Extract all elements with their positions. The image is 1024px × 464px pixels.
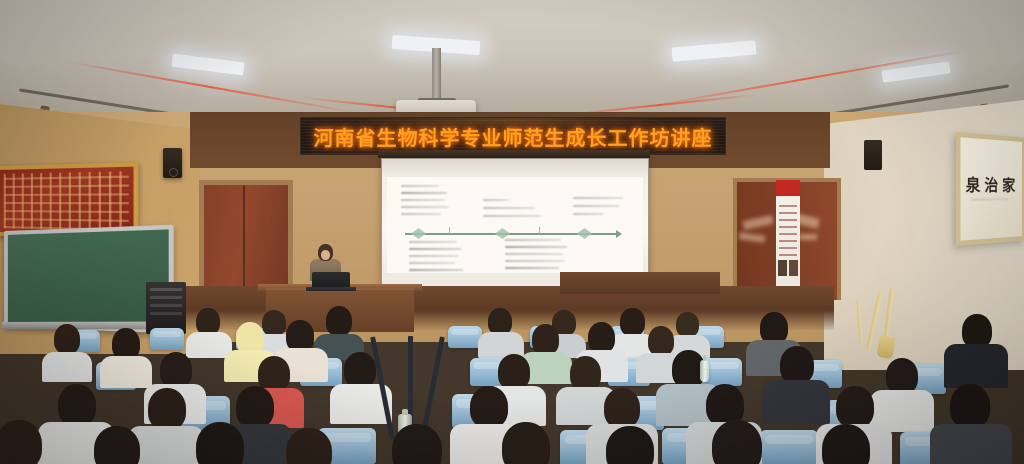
audience-head: [498, 354, 530, 390]
wall-speaker-right: [864, 140, 882, 170]
lecture-hall-photo: 河南省生物科学专业师范生成长工作坊讲座: [0, 0, 1024, 464]
screen-valance: [378, 150, 650, 158]
audience-head: [532, 324, 559, 355]
projection-screen: [381, 158, 649, 288]
audience-shoulders: [762, 380, 830, 424]
door-poster: [776, 180, 800, 290]
audience-head: [160, 352, 192, 388]
audience-shoulders: [930, 424, 1012, 464]
side-table: [560, 272, 720, 294]
right-calligraphy-scroll: 泉 治 家: [956, 132, 1024, 246]
audience-shoulders: [100, 356, 152, 388]
calligraphy-character: 家: [1002, 172, 1015, 195]
audience-head: [326, 306, 352, 336]
presenter-laptop: [312, 272, 350, 288]
audience-head: [822, 424, 870, 464]
timeline-slide: [387, 177, 643, 273]
audience-head: [58, 384, 96, 426]
audience-seating: [0, 300, 1024, 464]
audience-head: [712, 420, 762, 464]
audience-shoulders: [186, 332, 232, 358]
audience-head: [236, 386, 274, 428]
audience-head: [196, 308, 220, 335]
audience-head: [94, 426, 140, 464]
audience-head: [950, 384, 990, 428]
poster-images: [778, 260, 798, 276]
audience-head: [392, 424, 442, 464]
audience-head: [886, 358, 918, 394]
audience-head: [488, 308, 512, 335]
seat[interactable]: [448, 326, 482, 348]
audience-head: [344, 352, 376, 388]
audience-head: [676, 312, 699, 337]
door-left[interactable]: [199, 180, 293, 300]
presenter-laptop-base: [306, 287, 356, 291]
calligraphy-character: 治: [984, 172, 998, 196]
audience-head: [54, 324, 80, 354]
audience-head: [148, 388, 186, 430]
audience-shoulders: [42, 352, 92, 382]
audience-head: [196, 422, 244, 464]
water-bottle: [700, 360, 709, 382]
audience-head: [588, 322, 615, 353]
projector-mount-pole: [432, 48, 441, 102]
calligraphy-characters: [4, 171, 129, 231]
audience-head: [570, 356, 601, 391]
audience-head: [470, 386, 508, 428]
audience-head: [502, 422, 550, 464]
audience-head: [780, 346, 814, 384]
wall-speaker-left: [163, 148, 182, 178]
poster-header: [776, 180, 800, 196]
audience-head: [836, 386, 874, 428]
calligraphy-character: 泉: [966, 171, 981, 196]
audience-head: [962, 314, 992, 348]
audience-head: [606, 426, 654, 464]
timeline-node: [411, 228, 426, 239]
audience-head: [604, 388, 640, 428]
speaker-face: [321, 250, 330, 260]
audience-head: [0, 420, 42, 464]
seat[interactable]: [150, 328, 184, 350]
timeline-node: [577, 228, 592, 239]
audience-head: [648, 326, 674, 356]
seat[interactable]: [760, 430, 818, 464]
audience-head: [262, 310, 286, 336]
audience-head: [620, 308, 645, 336]
led-banner-text: 河南省生物科学专业师范生成长工作坊讲座: [314, 122, 713, 151]
timeline-node: [495, 228, 510, 239]
audience-head: [286, 428, 332, 464]
audience-shoulders: [944, 344, 1008, 388]
poster-text-lines: [779, 200, 797, 256]
